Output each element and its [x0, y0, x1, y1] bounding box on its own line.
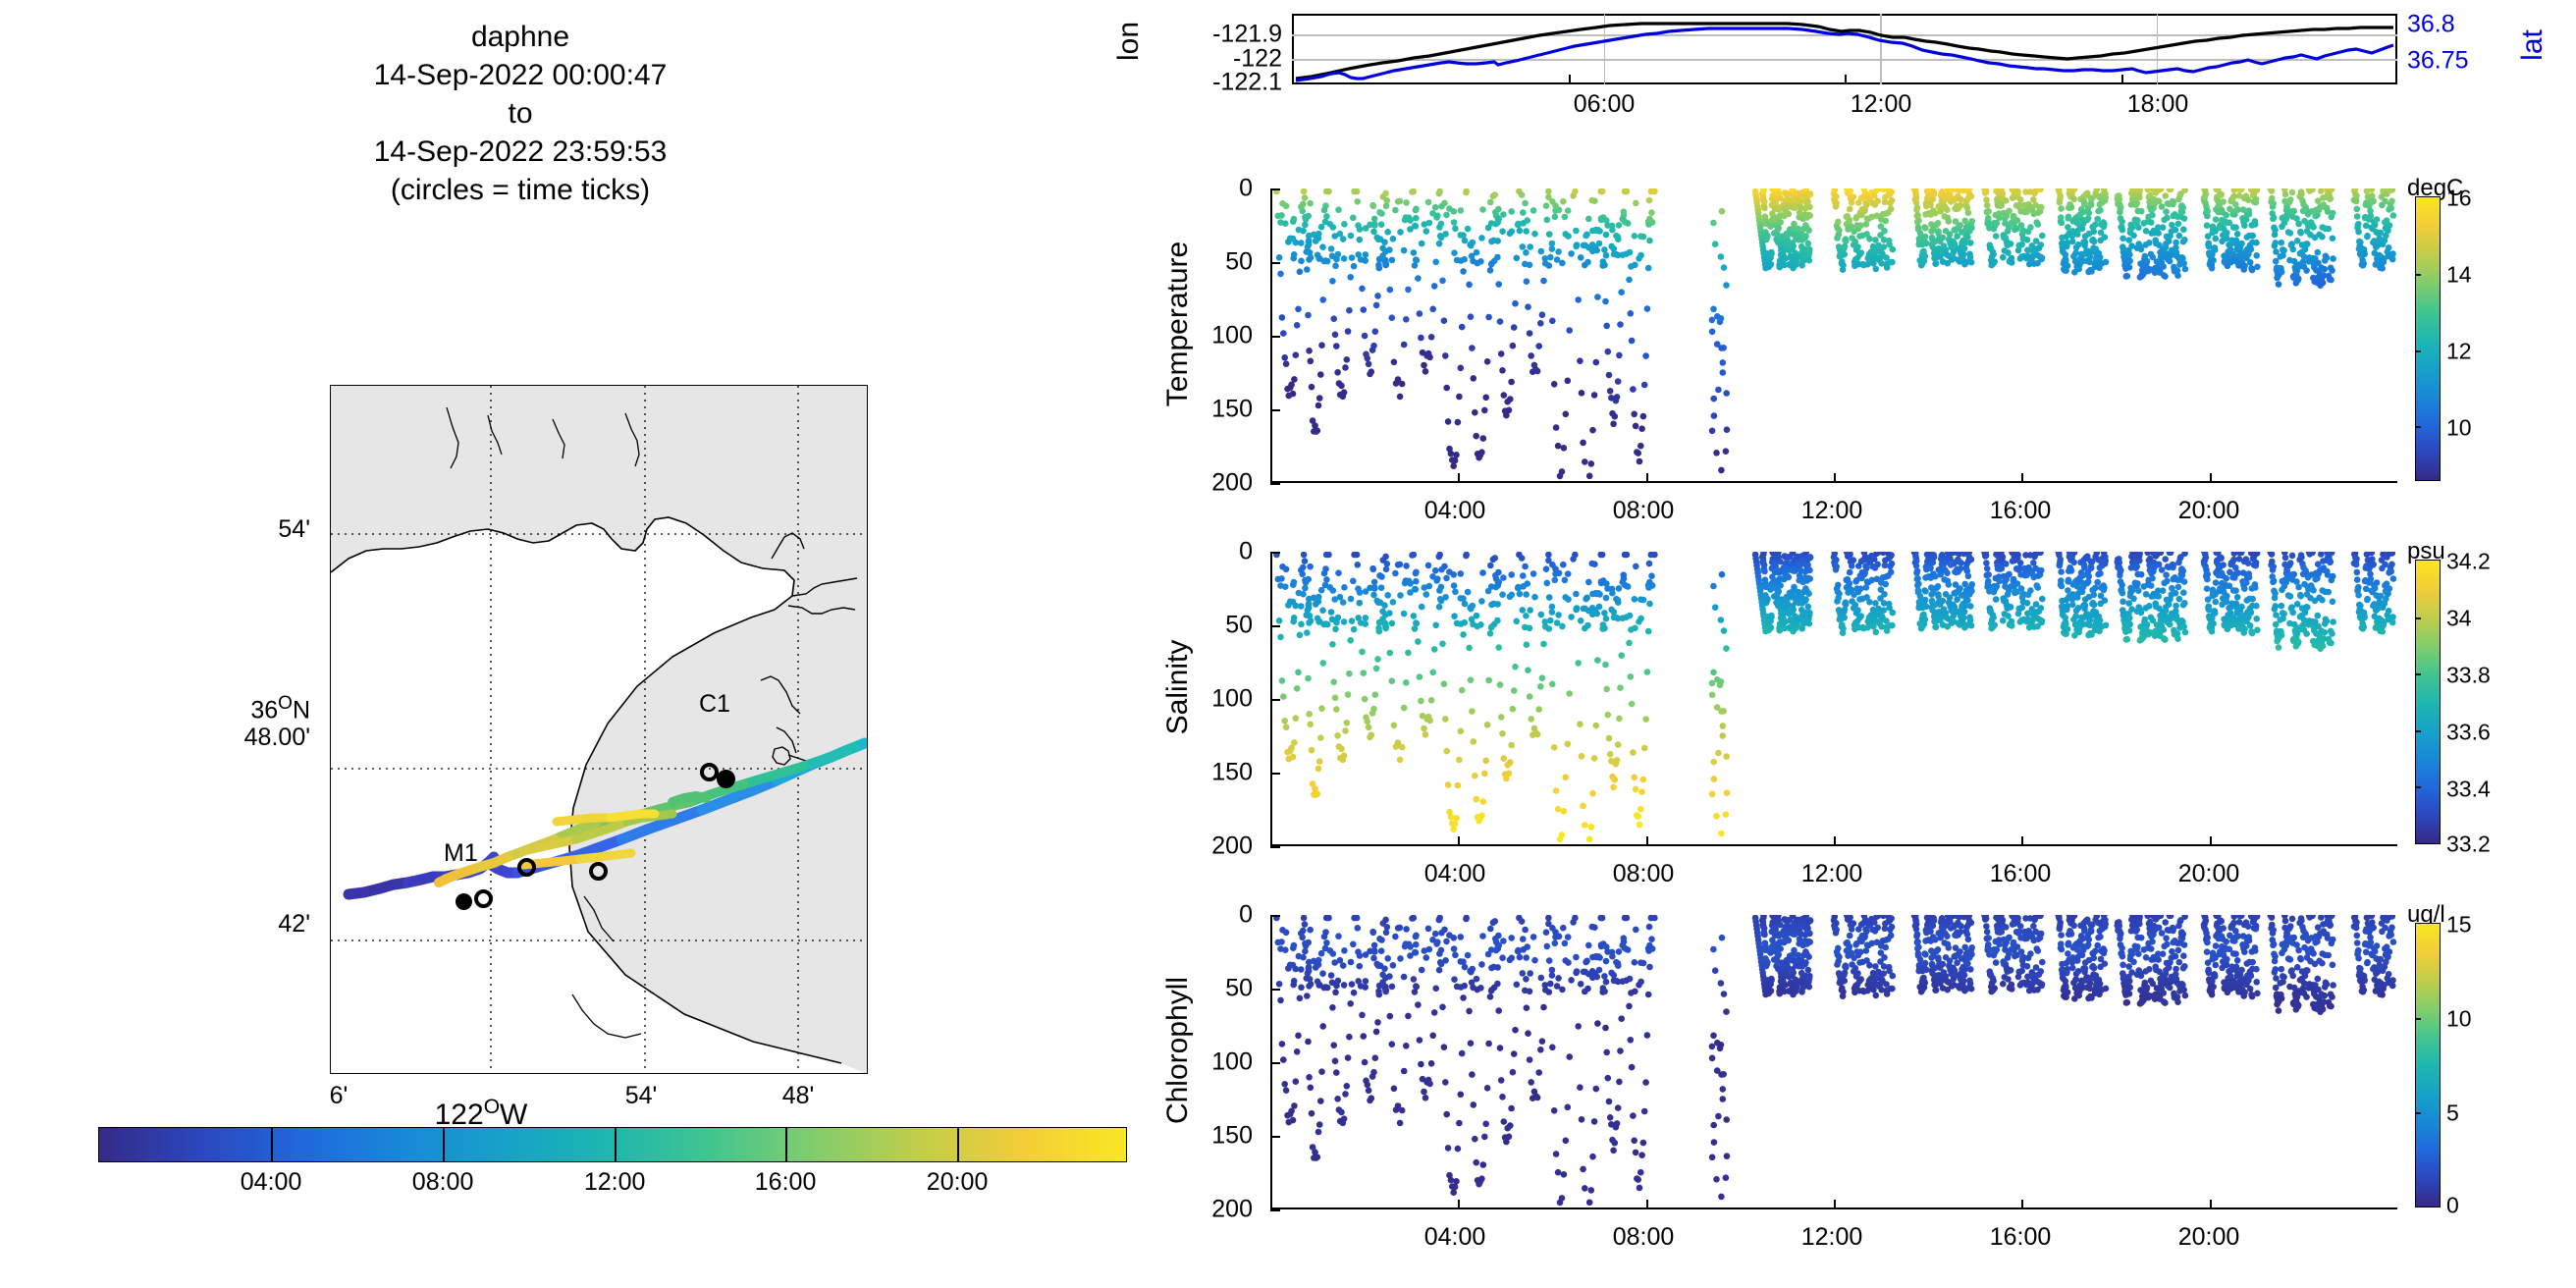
- x-tick: [2121, 75, 2123, 84]
- x-tick: [1569, 75, 1571, 84]
- salinity-xtick: 08:00: [1613, 860, 1675, 888]
- y-tick: [1270, 773, 1280, 775]
- nav-xtick: 06:00: [1574, 90, 1636, 119]
- map-station-dot-C1: [717, 770, 735, 788]
- chlorophyll-depth-tick: 0: [1168, 901, 1253, 930]
- x-tick: [2210, 1200, 2212, 1209]
- colorbar-tick-mark: [2416, 730, 2421, 732]
- title-note: (circles = time ticks): [177, 171, 864, 209]
- x-tick: [1646, 473, 1648, 483]
- salinity-scatter: [1270, 552, 2397, 846]
- map-ytick-54: 54': [134, 515, 310, 543]
- nav-lat-tick: 36.8: [2407, 11, 2525, 39]
- x-tick: [2021, 836, 2023, 846]
- salinity-colorbar-tick: 33.2: [2446, 832, 2491, 858]
- salinity-colorbar-tick: 33.4: [2446, 777, 2491, 803]
- time-colorbar-label: 08:00: [412, 1168, 474, 1197]
- chlorophyll-xtick: 04:00: [1424, 1223, 1486, 1252]
- salinity-colorbar[interactable]: [2415, 560, 2441, 844]
- salinity-xtick: 04:00: [1424, 860, 1486, 888]
- chlorophyll-depth-tick: 200: [1168, 1196, 1253, 1224]
- y-tick: [1270, 1062, 1280, 1064]
- x-tick: [1458, 473, 1460, 483]
- time-colorbar-label: 20:00: [927, 1168, 989, 1197]
- nav-lat-tick: 36.75: [2407, 47, 2525, 76]
- salinity-colorbar-tick: 34: [2446, 606, 2472, 632]
- salinity-colorbar-tick: 34.2: [2446, 549, 2491, 575]
- time-colorbar-gradient: [98, 1127, 1127, 1162]
- temperature-scatter: [1270, 188, 2397, 483]
- x-tick: [1646, 1200, 1648, 1209]
- nav-lon-tick: -122.1: [1145, 69, 1282, 97]
- y-tick: [1270, 989, 1280, 991]
- colorbar-tick-mark: [2416, 274, 2421, 276]
- time-colorbar-label: 12:00: [584, 1168, 646, 1197]
- y-tick: [1270, 1136, 1280, 1138]
- temperature-xtick: 20:00: [2178, 497, 2240, 525]
- y-tick: [1270, 188, 1280, 190]
- time-colorbar-tick: [785, 1127, 787, 1162]
- salinity-depth-tick: 100: [1168, 685, 1253, 714]
- salinity-xtick: 12:00: [1801, 860, 1863, 888]
- nav-lon-axis-label: lon: [1112, 22, 1146, 61]
- x-tick: [1834, 473, 1836, 483]
- x-tick: [2210, 473, 2212, 483]
- time-colorbar-tick: [443, 1127, 445, 1162]
- temperature-colorbar-tick: 14: [2446, 262, 2472, 289]
- colorbar-tick-mark: [2416, 617, 2421, 619]
- chlorophyll-xtick: 12:00: [1801, 1223, 1863, 1252]
- chlorophyll-colorbar-tick: 10: [2446, 1006, 2472, 1033]
- map-ytick-36N48: 36ON48.00': [108, 693, 310, 751]
- y-tick: [1270, 1209, 1280, 1211]
- x-tick: [1646, 836, 1648, 846]
- map-station-label-M1: M1: [444, 839, 478, 868]
- map-time-tick-circle: [517, 858, 536, 877]
- temperature-colorbar[interactable]: [2415, 196, 2441, 481]
- time-colorbar-tick: [615, 1127, 617, 1162]
- map-station-label-C1: C1: [699, 690, 730, 719]
- y-tick: [1270, 483, 1280, 485]
- chlorophyll-depth-tick: 150: [1168, 1122, 1253, 1151]
- time-colorbar-tick: [271, 1127, 273, 1162]
- time-colorbar[interactable]: 04:00 08:00 12:00 16:00 20:00: [98, 1127, 1127, 1162]
- map-ytick-42: 42': [134, 910, 310, 938]
- colorbar-tick-mark: [2416, 426, 2421, 428]
- x-tick: [1458, 1200, 1460, 1209]
- chlorophyll-colorbar-tick: 5: [2446, 1100, 2459, 1127]
- chlorophyll-panel[interactable]: [1270, 915, 2397, 1209]
- salinity-colorbar-tick: 33.6: [2446, 720, 2491, 746]
- x-tick: [2210, 836, 2212, 846]
- figure-title: daphne 14-Sep-2022 00:00:47 to 14-Sep-20…: [177, 18, 864, 209]
- title-to: to: [177, 94, 864, 133]
- temperature-depth-tick: 0: [1168, 175, 1253, 203]
- y-tick: [1270, 915, 1280, 917]
- title-end-time: 14-Sep-2022 23:59:53: [177, 133, 864, 171]
- temperature-depth-tick: 200: [1168, 469, 1253, 498]
- salinity-depth-tick: 50: [1168, 612, 1253, 640]
- temperature-depth-tick: 50: [1168, 248, 1253, 277]
- colorbar-tick-mark: [2416, 1018, 2421, 1020]
- temperature-xtick: 04:00: [1424, 497, 1486, 525]
- x-tick: [1845, 75, 1847, 84]
- map-graphic: [331, 386, 868, 1074]
- chlorophyll-xtick: 16:00: [1990, 1223, 2052, 1252]
- title-vehicle: daphne: [177, 18, 864, 56]
- map-panel[interactable]: [330, 385, 868, 1074]
- y-tick: [1270, 625, 1280, 627]
- y-tick: [1270, 336, 1280, 338]
- time-colorbar-label: 16:00: [755, 1168, 817, 1197]
- time-colorbar-label: 04:00: [241, 1168, 302, 1197]
- temperature-xtick: 12:00: [1801, 497, 1863, 525]
- x-tick: [1834, 836, 1836, 846]
- nav-xtick: 18:00: [2127, 90, 2189, 119]
- temperature-panel[interactable]: [1270, 188, 2397, 483]
- title-start-time: 14-Sep-2022 00:00:47: [177, 56, 864, 94]
- temperature-colorbar-tick: 10: [2446, 415, 2472, 442]
- salinity-colorbar-tick: 33.8: [2446, 663, 2491, 689]
- y-tick: [1270, 552, 1280, 554]
- temperature-colorbar-tick: 16: [2446, 186, 2472, 212]
- temperature-depth-tick: 100: [1168, 322, 1253, 350]
- salinity-panel[interactable]: [1270, 552, 2397, 846]
- map-xtick-6: 6': [295, 1082, 383, 1110]
- salinity-depth-tick: 200: [1168, 832, 1253, 861]
- map-time-tick-circle: [474, 889, 493, 908]
- salinity-depth-tick: 0: [1168, 538, 1253, 566]
- x-tick: [1834, 1200, 1836, 1209]
- colorbar-tick-mark: [2416, 786, 2421, 788]
- colorbar-tick-mark: [2416, 350, 2421, 352]
- x-tick: [2021, 473, 2023, 483]
- temperature-xtick: 08:00: [1613, 497, 1675, 525]
- colorbar-tick-mark: [2416, 673, 2421, 675]
- y-tick: [1270, 846, 1280, 848]
- chlorophyll-depth-tick: 100: [1168, 1048, 1253, 1077]
- x-tick: [1458, 836, 1460, 846]
- chlorophyll-depth-tick: 50: [1168, 975, 1253, 1003]
- nav-xtick: 12:00: [1851, 90, 1912, 119]
- navigation-panel[interactable]: [1292, 14, 2397, 84]
- chlorophyll-xtick: 08:00: [1613, 1223, 1675, 1252]
- time-colorbar-tick: [957, 1127, 959, 1162]
- salinity-depth-tick: 150: [1168, 759, 1253, 787]
- temperature-colorbar-tick: 12: [2446, 339, 2472, 365]
- salinity-xtick: 16:00: [1990, 860, 2052, 888]
- chlorophyll-scatter: [1270, 915, 2397, 1209]
- y-tick: [1270, 699, 1280, 701]
- y-tick: [1270, 409, 1280, 411]
- temperature-xtick: 16:00: [1990, 497, 2052, 525]
- map-xtick-48: 48': [754, 1082, 842, 1110]
- colorbar-tick-mark: [2416, 1112, 2421, 1114]
- map-xtick-54: 54': [597, 1082, 685, 1110]
- map-station-dot-M1: [456, 893, 472, 910]
- x-tick: [2021, 1200, 2023, 1209]
- y-tick: [1270, 262, 1280, 264]
- chlorophyll-colorbar-tick: 0: [2446, 1193, 2459, 1219]
- chlorophyll-colorbar[interactable]: [2415, 923, 2441, 1207]
- temperature-depth-tick: 150: [1168, 396, 1253, 424]
- map-time-tick-circle: [589, 862, 608, 881]
- chlorophyll-xtick: 20:00: [2178, 1223, 2240, 1252]
- map-time-tick-circle: [700, 763, 719, 781]
- chlorophyll-colorbar-tick: 15: [2446, 912, 2472, 939]
- salinity-xtick: 20:00: [2178, 860, 2240, 888]
